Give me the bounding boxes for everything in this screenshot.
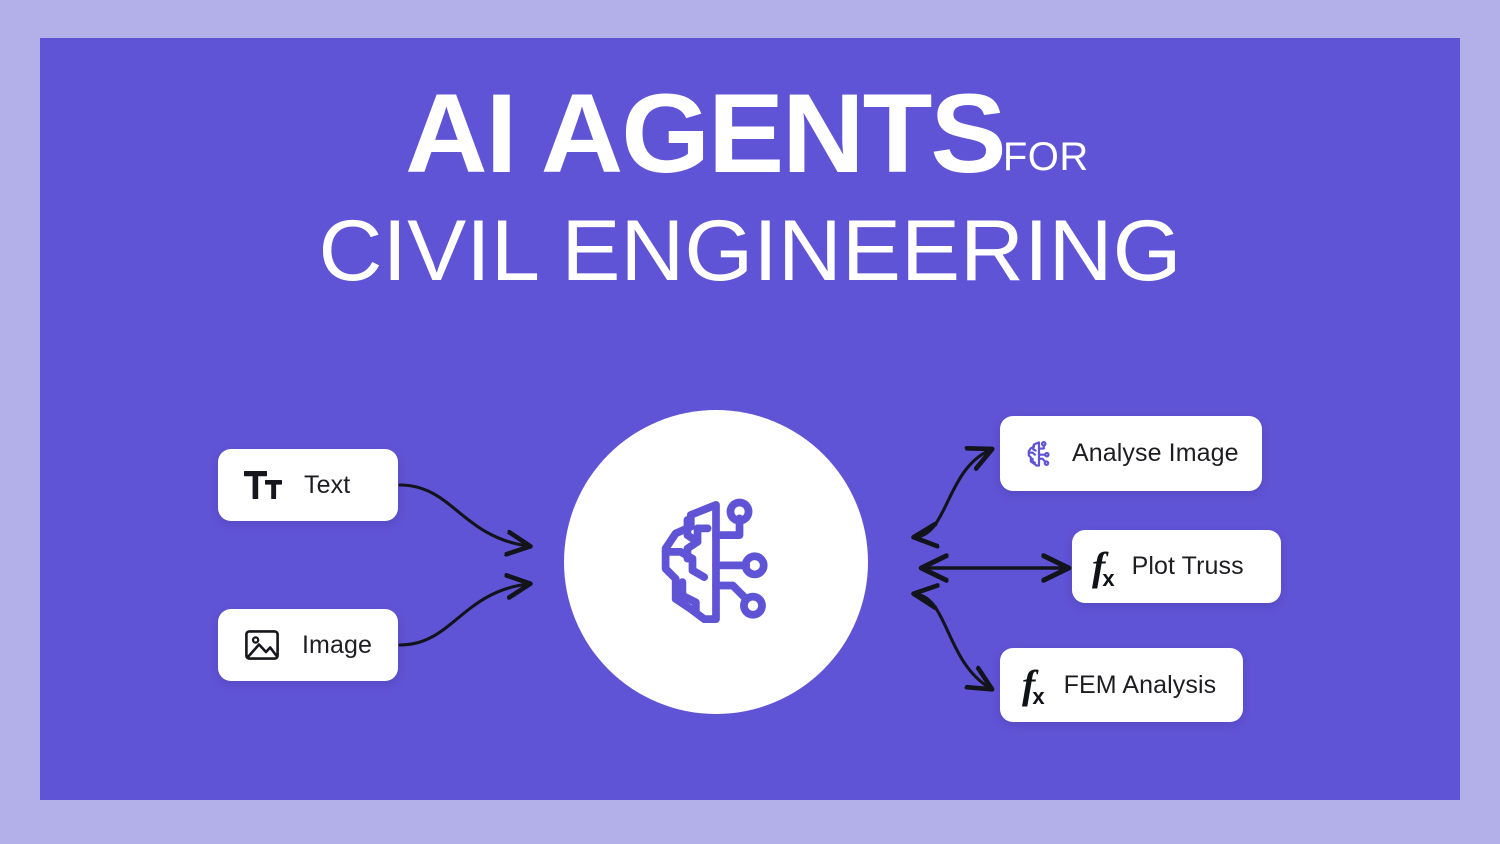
input-card-image[interactable]: Image	[218, 609, 398, 681]
output-card-label: FEM Analysis	[1064, 671, 1217, 700]
input-card-label: Image	[302, 631, 372, 660]
poster-canvas: AI AGENTSFOR CIVIL ENGINEERING Text Imag…	[0, 0, 1500, 844]
input-card-label: Text	[304, 471, 350, 500]
title-line-primary: AI AGENTSFOR	[0, 78, 1500, 190]
ai-agent-hub[interactable]	[564, 410, 868, 714]
title-for-text: FOR	[1003, 137, 1089, 177]
image-picture-icon	[244, 627, 280, 663]
output-card-label: Analyse Image	[1072, 439, 1239, 468]
title-main-text: AI AGENTS	[405, 78, 1004, 190]
text-format-icon	[244, 470, 282, 500]
function-fx-icon: fx	[1092, 547, 1118, 587]
output-card-plot-truss[interactable]: fx Plot Truss	[1072, 530, 1281, 603]
title-subject-text: CIVIL ENGINEERING	[0, 208, 1500, 294]
page-title: AI AGENTSFOR CIVIL ENGINEERING	[0, 78, 1500, 294]
input-card-text[interactable]: Text	[218, 449, 398, 521]
ai-brain-circuit-icon	[1022, 437, 1056, 471]
function-fx-icon: fx	[1022, 665, 1048, 705]
output-card-label: Plot Truss	[1132, 552, 1244, 581]
output-card-fem-analysis[interactable]: fx FEM Analysis	[1000, 648, 1243, 722]
output-card-analyse-image[interactable]: Analyse Image	[1000, 416, 1262, 491]
ai-brain-circuit-icon	[632, 478, 800, 646]
